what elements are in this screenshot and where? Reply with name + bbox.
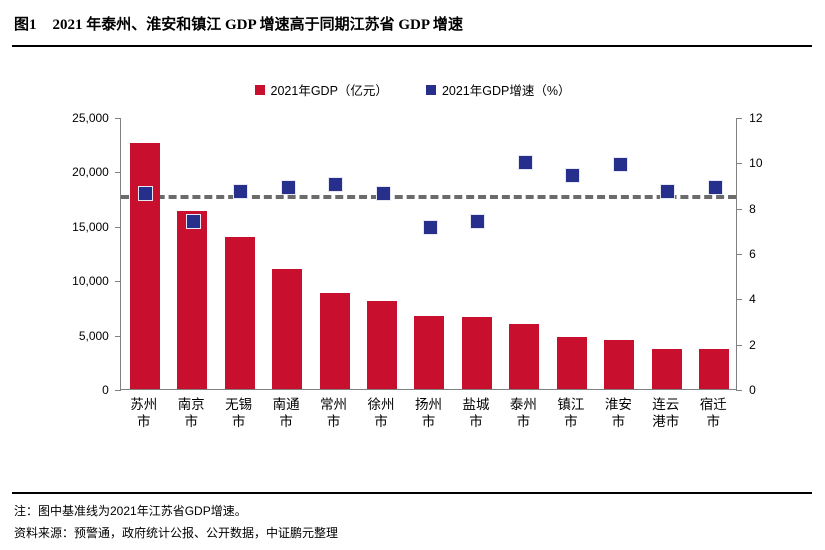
y-axis-left-tick: [115, 390, 121, 391]
chart-column: [263, 118, 310, 389]
y-axis-right-tick: [736, 345, 742, 346]
growth-rate-marker: [660, 184, 675, 199]
plot-area: 05,00010,00015,00020,00025,000024681012: [120, 118, 737, 390]
growth-rate-marker: [518, 155, 533, 170]
growth-rate-marker: [470, 214, 485, 229]
chart-column: [548, 118, 595, 389]
x-axis-label: 无锡市: [224, 396, 254, 430]
y-axis-left-tick-label: 25,000: [72, 112, 115, 124]
x-axis-label: 扬州市: [414, 396, 444, 430]
chart-column: [691, 118, 738, 389]
figure-panel: 图1 2021 年泰州、淮安和镇江 GDP 增速高于同期江苏省 GDP 增速 2…: [0, 0, 825, 550]
growth-rate-marker: [708, 180, 723, 195]
gdp-bar: [414, 316, 444, 389]
y-axis-left-tick: [115, 227, 121, 228]
gdp-bar: [177, 211, 207, 389]
growth-rate-marker: [423, 220, 438, 235]
gdp-bar: [272, 269, 302, 389]
x-axis-label: 南京市: [176, 396, 206, 430]
x-axis-label: 镇江市: [556, 396, 586, 430]
x-axis-label: 常州市: [319, 396, 349, 430]
gdp-bar: [225, 237, 255, 389]
y-axis-right-tick: [736, 299, 742, 300]
y-axis-left-tick: [115, 172, 121, 173]
x-axis-label: 盐城市: [461, 396, 491, 430]
gdp-bar: [652, 349, 682, 389]
chart-column: [501, 118, 548, 389]
chart-column: [358, 118, 405, 389]
growth-rate-marker: [138, 186, 153, 201]
y-axis-left-tick: [115, 118, 121, 119]
source-text: 资料来源：预警通，政府统计公报、公开数据，中证鹏元整理: [14, 522, 338, 544]
x-axis-label: 宿迁市: [698, 396, 728, 430]
y-axis-left-tick: [115, 336, 121, 337]
x-axis-label: 连云港市: [651, 396, 681, 430]
x-axis-label: 泰州市: [508, 396, 538, 430]
y-axis-right-tick: [736, 209, 742, 210]
gdp-bar: [462, 317, 492, 389]
x-axis-label: 南通市: [271, 396, 301, 430]
y-axis-right-tick: [736, 254, 742, 255]
chart-column: [216, 118, 263, 389]
growth-rate-marker: [281, 180, 296, 195]
x-axis-label: 徐州市: [366, 396, 396, 430]
gdp-bar: [320, 293, 350, 389]
growth-rate-marker: [186, 214, 201, 229]
gdp-bar: [130, 143, 160, 389]
chart-column: [406, 118, 453, 389]
chart-column: [643, 118, 690, 389]
y-axis-left-tick-label: 0: [102, 384, 115, 396]
y-axis-right-tick: [736, 390, 742, 391]
x-axis-label: 淮安市: [603, 396, 633, 430]
gdp-bar: [509, 324, 539, 389]
y-axis-right-tick-label: 4: [742, 293, 756, 305]
y-axis-left-tick-label: 5,000: [79, 330, 115, 342]
chart-column: [168, 118, 215, 389]
growth-rate-marker: [233, 184, 248, 199]
y-axis-right-tick-label: 8: [742, 203, 756, 215]
chart-column: [453, 118, 500, 389]
chart-column: [121, 118, 168, 389]
y-axis-left-tick-label: 20,000: [72, 166, 115, 178]
series-layer: [121, 118, 736, 389]
chart-canvas: 05,00010,00015,00020,00025,000024681012 …: [0, 0, 825, 550]
y-axis-right-tick-label: 12: [742, 112, 762, 124]
y-axis-right-tick-label: 0: [742, 384, 756, 396]
x-axis-labels: 苏州市南京市无锡市南通市常州市徐州市扬州市盐城市泰州市镇江市淮安市连云港市宿迁市: [120, 396, 737, 486]
gdp-bar: [699, 349, 729, 389]
y-axis-left-tick: [115, 281, 121, 282]
growth-rate-marker: [376, 186, 391, 201]
figure-notes: 注：图中基准线为2021年江苏省GDP增速。 资料来源：预警通，政府统计公报、公…: [14, 500, 338, 544]
y-axis-right-tick: [736, 163, 742, 164]
note-text: 注：图中基准线为2021年江苏省GDP增速。: [14, 500, 338, 522]
y-axis-left-tick-label: 15,000: [72, 221, 115, 233]
y-axis-right-tick-label: 2: [742, 339, 756, 351]
bottom-divider: [12, 492, 812, 494]
x-axis-label: 苏州市: [129, 396, 159, 430]
chart-column: [311, 118, 358, 389]
growth-rate-marker: [328, 177, 343, 192]
gdp-bar: [604, 340, 634, 390]
y-axis-right-tick-label: 10: [742, 157, 762, 169]
growth-rate-marker: [613, 157, 628, 172]
y-axis-right-tick-label: 6: [742, 248, 756, 260]
growth-rate-marker: [565, 168, 580, 183]
chart-column: [596, 118, 643, 389]
y-axis-left-tick-label: 10,000: [72, 275, 115, 287]
gdp-bar: [557, 337, 587, 389]
y-axis-right-tick: [736, 118, 742, 119]
gdp-bar: [367, 301, 397, 389]
